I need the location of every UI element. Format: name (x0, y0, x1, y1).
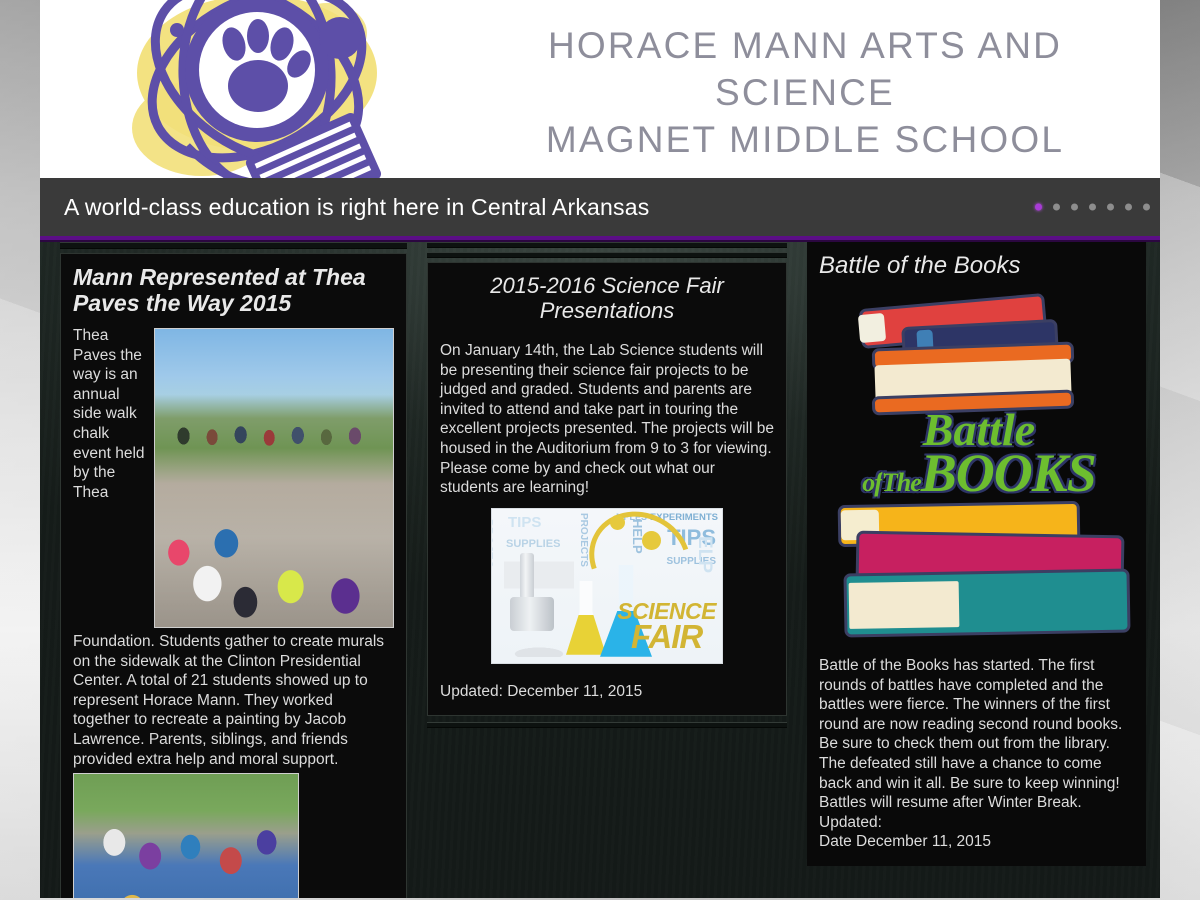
battle-of-the-books-logo: Battle ofTheBOOKS (819, 286, 1139, 646)
column-science-fair: 2015-2016 Science Fair Presentations On … (427, 242, 787, 898)
battle-logo-the: The (882, 468, 921, 497)
slideshow-caption-text: A world-class education is right here in… (64, 194, 649, 221)
thea-chalk-photo-2 (73, 773, 299, 898)
science-fair-logo-line2: FAIR (617, 622, 716, 652)
book-teal-pages (849, 581, 960, 629)
slideshow-dot-3[interactable] (1071, 204, 1078, 211)
science-fair-image: PROJEC TIPS SUPPLIES PROJECTS MPLES HELP… (491, 508, 723, 664)
site-container: HORACE MANN ARTS AND SCIENCE MAGNET MIDD… (40, 0, 1160, 900)
science-fair-ball-small (610, 515, 625, 530)
site-header: HORACE MANN ARTS AND SCIENCE MAGNET MIDD… (40, 0, 1160, 178)
article-body-science-fair: On January 14th, the Lab Science student… (440, 341, 774, 498)
column-thea: Mann Represented at Thea Paves the Way 2… (60, 242, 407, 898)
slideshow-dot-7[interactable] (1143, 204, 1150, 211)
article-paragraph-battle: Battle of the Books has started. The fir… (819, 656, 1134, 813)
slideshow-dot-1[interactable] (1035, 204, 1042, 211)
battle-logo-books: BOOKS (921, 443, 1096, 503)
article-card-thea: Mann Represented at Thea Paves the Way 2… (60, 253, 407, 898)
column-battle-of-the-books: Battle of the Books (807, 242, 1146, 898)
science-fair-updated-date: Updated: December 11, 2015 (440, 682, 774, 702)
school-name-line-1: HORACE MANN ARTS AND SCIENCE (470, 22, 1140, 116)
slideshow-dot-6[interactable] (1125, 204, 1132, 211)
three-column-layout: Mann Represented at Thea Paves the Way 2… (40, 242, 1160, 898)
article-paragraph-science-fair: On January 14th, the Lab Science student… (440, 341, 774, 498)
battle-updated-date: Date December 11, 2015 (819, 832, 1134, 852)
article-card-battle: Battle of the Books (807, 242, 1146, 866)
slideshow-dot-4[interactable] (1089, 204, 1096, 211)
battle-logo-of: of (862, 468, 882, 497)
battle-updated-label: Updated: (819, 813, 1134, 833)
article-title-science-fair: 2015-2016 Science Fair Presentations (440, 273, 774, 323)
slideshow-dot-5[interactable] (1107, 204, 1114, 211)
article-body-battle: Battle of the Books has started. The fir… (819, 656, 1134, 852)
battle-logo-text: Battle ofTheBOOKS (819, 410, 1139, 506)
slideshow-dot-nav[interactable] (1035, 204, 1150, 211)
book-red-pages (858, 313, 886, 343)
sf-word-projec: PROJEC (491, 519, 494, 568)
microscope-icon (504, 553, 574, 657)
sf-word-supplies: SUPPLIES (506, 539, 560, 550)
article-card-science-fair: 2015-2016 Science Fair Presentations On … (427, 262, 787, 716)
sf-word-tips-faint: TIPS (508, 515, 541, 530)
thea-chalk-photo-1 (154, 328, 394, 628)
article-title-thea: Mann Represented at Thea Paves the Way 2… (73, 264, 394, 316)
card-bottom-bar (427, 722, 787, 728)
card-top-bar (60, 242, 407, 249)
school-logo-icon[interactable] (82, 0, 532, 178)
school-name-line-2: MAGNET MIDDLE SCHOOL (470, 116, 1140, 163)
card-top-bar-b (427, 252, 787, 258)
science-fair-logo-text: SCIENCE FAIR (617, 601, 716, 653)
science-fair-ball-large (642, 531, 661, 550)
article-title-battle: Battle of the Books (819, 252, 1134, 280)
slideshow-dot-2[interactable] (1053, 204, 1060, 211)
main-content: Mann Represented at Thea Paves the Way 2… (40, 242, 1160, 898)
sf-word-help: ELP (695, 536, 714, 573)
battle-logo-line2: ofTheBOOKS (819, 450, 1139, 506)
school-name: HORACE MANN ARTS AND SCIENCE MAGNET MIDD… (470, 22, 1140, 163)
card-top-bar-a (427, 242, 787, 248)
slideshow-caption-bar: A world-class education is right here in… (40, 178, 1160, 236)
sf-word-projects: PROJECTS (578, 513, 588, 567)
